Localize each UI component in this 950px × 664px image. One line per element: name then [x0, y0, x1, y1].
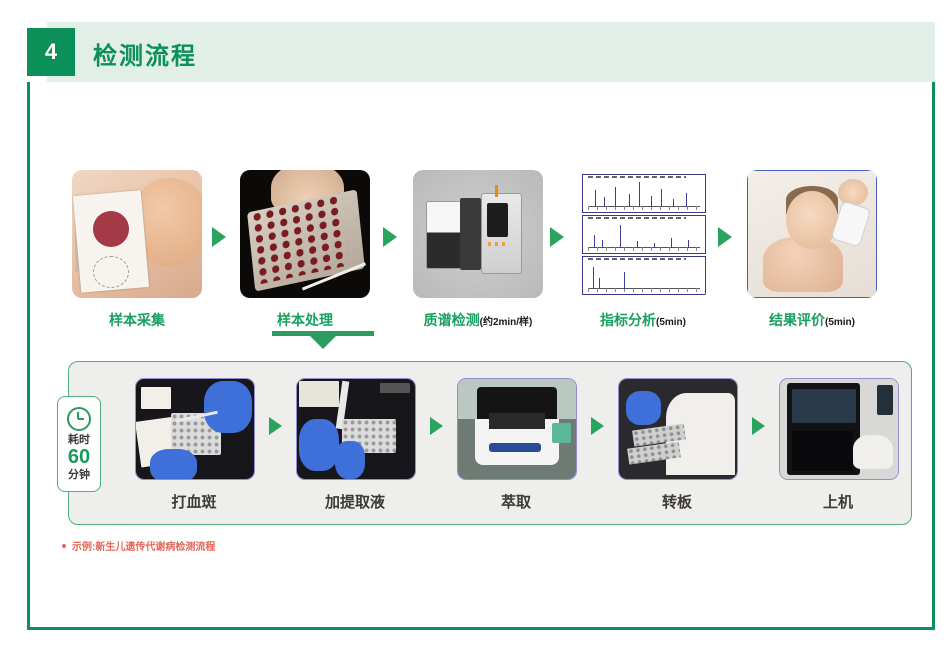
- detail-step-5-label: 上机: [759, 491, 917, 512]
- step-2-caption: 样本处理: [215, 310, 395, 330]
- slide-page: 4 检测流程 样本采集 样本处理: [0, 0, 950, 664]
- detail-step-2-label: 加提取液: [276, 491, 434, 512]
- step-2-label: 样本处理: [277, 312, 333, 328]
- detail-step-4[interactable]: 转板: [618, 378, 736, 480]
- section-number-badge: 4: [27, 28, 75, 76]
- frame-right-border: [932, 82, 935, 630]
- workflow-step-2[interactable]: 样本处理: [240, 170, 370, 298]
- step-2-image: [240, 170, 370, 298]
- detail-step-3-label: 萃取: [437, 491, 595, 512]
- step-1-caption: 样本采集: [47, 310, 227, 330]
- workflow-step-3[interactable]: 质谱检测(约2min/样): [413, 170, 543, 298]
- workflow-step-1[interactable]: 样本采集: [72, 170, 202, 298]
- detail-arrow-1-2-icon: [269, 417, 282, 435]
- arrow-2-3-icon: [383, 227, 397, 247]
- step-5-image: [747, 170, 877, 298]
- step-3-image: [413, 170, 543, 298]
- footnote: 示例:新生儿遗传代谢病检测流程: [62, 538, 215, 553]
- step-3-caption: 质谱检测(约2min/样): [388, 310, 568, 330]
- detail-step-1-label: 打血斑: [115, 491, 273, 512]
- page-title: 检测流程: [93, 36, 197, 71]
- detail-step-2-image: [296, 378, 416, 480]
- detail-step-4-label: 转板: [598, 491, 756, 512]
- step-5-sublabel: (5min): [825, 317, 855, 328]
- detail-step-1[interactable]: 打血斑: [135, 378, 253, 480]
- arrow-3-4-icon: [550, 227, 564, 247]
- bullet-dot-icon: [62, 544, 66, 548]
- step-4-image: [578, 170, 708, 298]
- step-4-sublabel: (5min): [656, 317, 686, 328]
- detail-step-3[interactable]: 萃取: [457, 378, 575, 480]
- duration-badge-label: 耗时: [68, 434, 90, 446]
- duration-badge: 耗时 60 分钟: [57, 396, 101, 492]
- detail-arrow-4-5-icon: [752, 417, 765, 435]
- step-5-caption: 结果评价(5min): [722, 310, 902, 330]
- duration-badge-value: 60: [68, 447, 90, 468]
- workflow-row-detail-panel: 打血斑 加提取液: [68, 361, 912, 525]
- workflow-step-5[interactable]: 结果评价(5min): [747, 170, 877, 298]
- detail-step-5[interactable]: 上机: [779, 378, 897, 480]
- step-1-label: 样本采集: [109, 312, 165, 328]
- detail-step-4-image: [618, 378, 738, 480]
- detail-step-3-image: [457, 378, 577, 480]
- step-5-label: 结果评价: [769, 312, 825, 328]
- step-1-image: [72, 170, 202, 298]
- frame-bottom-border: [27, 627, 935, 630]
- detail-step-2[interactable]: 加提取液: [296, 378, 414, 480]
- step-4-caption: 指标分析(5min): [553, 310, 733, 330]
- frame-left-border: [27, 82, 30, 630]
- workflow-row-primary: 样本采集 样本处理 质谱检测(约2: [0, 170, 950, 330]
- arrow-4-5-icon: [718, 227, 732, 247]
- step-3-sublabel: (约2min/样): [480, 317, 533, 328]
- workflow-step-4[interactable]: 指标分析(5min): [578, 170, 708, 298]
- detail-arrow-2-3-icon: [430, 417, 443, 435]
- clock-icon: [67, 407, 91, 431]
- step-4-label: 指标分析: [600, 312, 656, 328]
- arrow-1-2-icon: [212, 227, 226, 247]
- footnote-text: 示例:新生儿遗传代谢病检测流程: [72, 542, 215, 553]
- detail-step-5-image: [779, 378, 899, 480]
- duration-badge-unit: 分钟: [68, 469, 90, 481]
- step-3-label: 质谱检测: [424, 312, 480, 328]
- detail-step-1-image: [135, 378, 255, 480]
- detail-arrow-3-4-icon: [591, 417, 604, 435]
- selected-step-down-arrow-icon: [310, 336, 336, 349]
